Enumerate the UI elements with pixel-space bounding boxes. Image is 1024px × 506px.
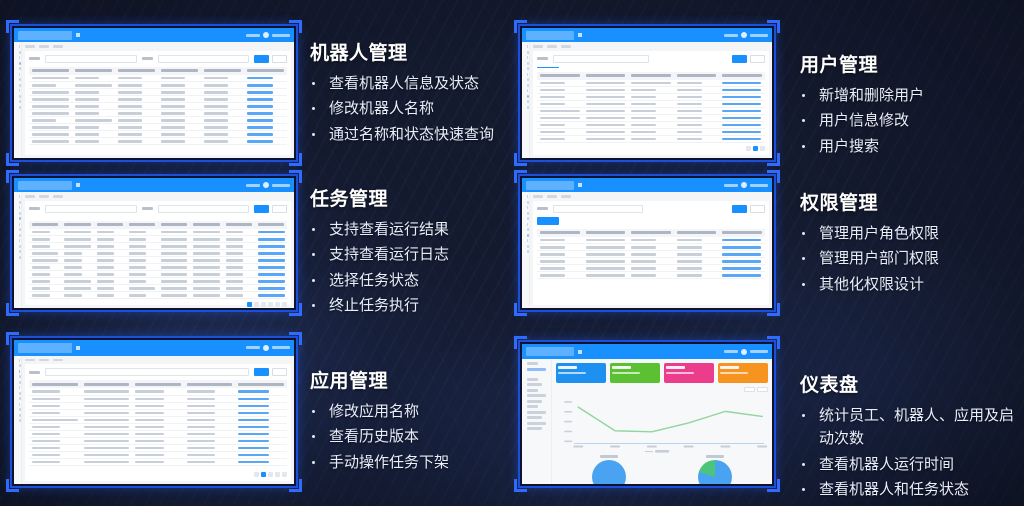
column-header[interactable] [29,67,72,75]
screenshot-application-management[interactable] [10,336,298,488]
table-row[interactable] [29,292,287,299]
column-header[interactable] [115,67,158,75]
sidebar-item[interactable] [19,84,21,87]
pagination[interactable] [29,299,287,307]
sidebar-item[interactable] [19,78,21,81]
table-row[interactable] [29,423,287,430]
pagination-page[interactable] [753,146,758,151]
sidebar-item[interactable] [527,201,529,204]
cell [115,117,158,124]
cell-action[interactable] [255,271,287,278]
sidebar-item[interactable] [19,256,21,259]
sidebar-item[interactable] [19,408,21,411]
table-row[interactable] [29,402,287,409]
cell-action[interactable] [235,444,287,451]
sidebar-item[interactable] [19,381,21,384]
sidebar-item[interactable] [19,51,21,54]
sidebar-item[interactable] [19,201,21,204]
pagination-page[interactable] [275,302,280,307]
breadcrumb-item[interactable] [25,195,35,198]
table-row[interactable] [537,237,765,244]
cell-action[interactable] [235,423,287,430]
table-row[interactable] [29,103,287,110]
header-link[interactable] [246,34,260,37]
add-user-button[interactable] [537,67,559,68]
add-role-button[interactable] [537,217,559,225]
sidebar-item[interactable] [19,245,21,248]
pagination[interactable] [29,469,287,477]
table-row[interactable] [537,87,765,94]
table-row[interactable] [29,430,287,437]
sidebar-item[interactable] [527,400,542,403]
cell-action[interactable] [255,229,287,236]
column-header[interactable] [201,67,244,75]
table-row[interactable] [29,257,287,264]
sidebar-item[interactable] [19,419,21,422]
screenshot-dashboard[interactable] [518,340,776,488]
pie-left[interactable] [592,460,626,484]
cell-action[interactable] [235,437,287,444]
table-row[interactable] [29,416,287,423]
table-row[interactable] [29,124,287,131]
cell-action[interactable] [255,264,287,271]
cell-action[interactable] [235,388,287,395]
reset-button[interactable] [750,205,765,213]
menu-toggle-icon[interactable] [76,33,80,37]
cell [537,94,583,101]
bullet-dot-icon [802,232,805,235]
sidebar-item-active[interactable] [19,370,20,373]
table-row[interactable] [29,285,287,292]
table-row[interactable] [29,444,287,451]
cell-action[interactable] [719,115,765,122]
cell-action[interactable] [244,138,287,145]
table-row[interactable] [537,108,765,115]
sidebar-item[interactable] [19,386,20,389]
table-row[interactable] [29,110,287,117]
sidebar-item[interactable] [527,67,529,70]
column-header[interactable] [628,72,674,80]
cell-action[interactable] [244,110,287,117]
corner-bracket-top-left-icon [514,170,527,183]
sidebar-item[interactable] [527,217,529,220]
sidebar-item[interactable] [19,414,21,417]
sidebar-item[interactable] [19,106,21,109]
column-header[interactable] [29,221,61,229]
bullet-text: 用户信息修改 [819,109,1010,132]
sidebar-item[interactable] [527,73,528,76]
sidebar-item-active[interactable] [527,95,529,98]
range-option-week[interactable] [744,387,755,392]
column-header[interactable] [61,221,93,229]
cell [201,96,244,103]
table-row[interactable] [29,89,287,96]
sidebar-item[interactable] [527,195,528,198]
search-button[interactable] [254,55,269,63]
menu-toggle-icon[interactable] [76,346,80,350]
column-header[interactable] [537,72,583,80]
column-header[interactable] [223,221,255,229]
chart-range-toggle[interactable] [556,387,768,392]
filter-label [537,57,548,60]
stat-card-employees[interactable] [556,363,606,383]
sidebar-item-active[interactable] [527,368,546,371]
sidebar-item[interactable] [527,206,528,209]
sidebar-item[interactable] [19,45,20,48]
cell-action[interactable] [719,265,765,272]
column-header[interactable] [72,67,115,75]
filter-bar [29,368,287,376]
stat-card-robots[interactable] [610,363,660,383]
sidebar-item[interactable] [19,239,20,242]
header-link[interactable] [246,184,260,187]
stat-card-launches[interactable] [718,363,768,383]
cell-action[interactable] [244,96,287,103]
cell-action[interactable] [235,430,287,437]
pagination-page[interactable] [247,302,252,307]
sidebar-item[interactable] [19,375,21,378]
sidebar-item[interactable] [19,397,21,400]
cell-action[interactable] [255,292,287,299]
sidebar-item[interactable] [527,106,529,109]
cell-action[interactable] [719,272,765,279]
sidebar-item-active[interactable] [19,62,21,65]
sidebar-item[interactable] [19,234,21,237]
reset-button[interactable] [750,55,765,63]
sidebar-item[interactable] [527,394,546,397]
avatar[interactable] [741,349,747,355]
table-row[interactable] [29,278,287,285]
sidebar-item-active[interactable] [527,234,529,237]
header-link[interactable] [724,184,738,187]
header-link[interactable] [246,346,260,349]
breadcrumb-item[interactable] [39,45,49,48]
pagination-page[interactable] [261,302,266,307]
sidebar-item[interactable] [19,403,20,406]
table-row[interactable] [537,122,765,129]
table-row[interactable] [29,250,287,257]
bullet-text: 支持查看运行结果 [329,218,525,241]
sidebar-item[interactable] [527,362,538,365]
search-input[interactable] [45,368,249,376]
sidebar-item[interactable] [527,223,528,226]
avatar[interactable] [263,345,269,351]
breadcrumb-item[interactable] [533,45,543,48]
cell-action[interactable] [255,250,287,257]
table-row[interactable] [537,244,765,251]
pie-right[interactable] [698,460,732,484]
column-header[interactable] [537,229,583,237]
breadcrumb-item[interactable] [547,45,557,48]
pagination-page[interactable] [275,472,280,477]
table-row[interactable] [29,264,287,271]
table-row[interactable] [29,229,287,236]
search-input[interactable] [553,55,649,63]
sidebar-item[interactable] [19,67,21,70]
table-row[interactable] [537,115,765,122]
table-row[interactable] [29,451,287,458]
column-header[interactable] [158,221,190,229]
cell-action[interactable] [244,75,287,82]
column-header[interactable] [132,380,184,388]
cell [115,131,158,138]
bullet-text: 其他化权限设计 [819,273,1010,296]
column-header[interactable] [719,229,765,237]
cell-action[interactable] [719,136,765,143]
bullet-item: 查看机器人和任务状态 [800,478,1018,501]
cell-action[interactable] [255,285,287,292]
screenshot-permission-management[interactable] [518,174,776,312]
pagination-page[interactable] [261,472,266,477]
menu-toggle-icon[interactable] [578,350,582,354]
pagination-next[interactable] [760,146,765,151]
cell-action[interactable] [235,409,287,416]
column-header[interactable] [255,221,287,229]
cell-action[interactable] [255,236,287,243]
cell-action[interactable] [255,278,287,285]
cell-action[interactable] [719,244,765,251]
breadcrumb-item[interactable] [25,45,35,48]
sidebar-item[interactable] [527,89,528,92]
sidebar-item-active[interactable] [19,217,21,220]
table-row[interactable] [29,243,287,250]
menu-toggle-icon[interactable] [76,183,80,187]
pagination-prev[interactable] [254,472,259,477]
column-header[interactable] [126,221,158,229]
search-button[interactable] [732,205,747,213]
table-row[interactable] [29,117,287,124]
range-option-month[interactable] [757,387,768,392]
pagination-next[interactable] [282,302,287,307]
search-button[interactable] [254,368,269,376]
menu-toggle-icon[interactable] [578,33,582,37]
sidebar-item[interactable] [19,56,20,59]
column-header[interactable] [244,67,287,75]
sidebar-item[interactable] [19,100,21,103]
bullet-list: 修改应用名称 查看历史版本 手动操作任务下架 [310,400,525,474]
column-header[interactable] [235,380,287,388]
stat-card-applications[interactable] [664,363,714,383]
pagination-page[interactable] [254,302,259,307]
sidebar-item[interactable] [19,95,21,98]
search-input[interactable] [45,205,137,213]
cell-action[interactable] [235,402,287,409]
reset-button[interactable] [272,55,287,63]
column-header[interactable] [583,72,629,80]
column-header[interactable] [719,72,765,80]
column-header[interactable] [674,229,720,237]
table-row[interactable] [537,80,765,87]
cell-action[interactable] [719,101,765,108]
table-row[interactable] [537,265,765,272]
reset-button[interactable] [272,368,287,376]
table-row[interactable] [29,388,287,395]
pagination-page[interactable] [268,302,273,307]
sidebar-item[interactable] [19,212,21,215]
cell-action[interactable] [719,87,765,94]
cell-action[interactable] [719,258,765,265]
table-row[interactable] [537,94,765,101]
column-header[interactable] [583,229,629,237]
cell-action[interactable] [235,416,287,423]
column-header[interactable] [81,380,133,388]
chart-legend [645,450,669,453]
column-header[interactable] [674,72,720,80]
cell-action[interactable] [235,458,287,465]
sidebar [522,192,530,308]
search-button[interactable] [254,205,269,213]
table-row[interactable] [537,258,765,265]
avatar[interactable] [741,32,747,38]
cell-action[interactable] [235,395,287,402]
cell-action[interactable] [244,117,287,124]
sidebar-item[interactable] [527,239,528,242]
corner-bracket-bottom-left-icon [514,479,527,492]
table-row[interactable] [29,409,287,416]
table-row[interactable] [29,437,287,444]
pagination-prev[interactable] [746,146,751,151]
search-input[interactable] [45,55,137,63]
header-link[interactable] [724,350,738,353]
cell-action[interactable] [244,131,287,138]
sidebar-item[interactable] [527,56,528,59]
table-row[interactable] [537,101,765,108]
cell [537,272,583,279]
section-heading: 任务管理 [310,184,525,211]
sidebar-item[interactable] [527,78,529,81]
cell-action[interactable] [255,243,287,250]
breadcrumb-item[interactable] [533,195,543,198]
breadcrumb-item[interactable] [39,359,49,362]
sidebar-item[interactable] [19,228,21,231]
sidebar-item[interactable] [527,45,528,48]
sidebar-item[interactable] [527,62,529,65]
avatar[interactable] [263,32,269,38]
cell [201,89,244,96]
screenshot-user-management[interactable] [518,24,776,162]
cell-action[interactable] [719,108,765,115]
breadcrumb-item[interactable] [547,195,557,198]
screenshot-task-management[interactable] [10,174,298,312]
sidebar-item[interactable] [527,378,538,381]
cell-action[interactable] [719,237,765,244]
sidebar-item[interactable] [19,392,21,395]
cell [81,423,133,430]
status-select[interactable] [158,205,250,213]
search-button[interactable] [732,55,747,63]
sidebar-item[interactable] [527,405,538,408]
cell-action[interactable] [235,451,287,458]
corner-bracket-top-left-icon [514,20,527,33]
cell-action[interactable] [244,124,287,131]
corner-bracket-top-right-icon [767,170,780,183]
sidebar-item[interactable] [527,228,529,231]
cell-action[interactable] [244,89,287,96]
table-row[interactable] [29,96,287,103]
sidebar-item[interactable] [527,411,546,414]
table-row[interactable] [29,395,287,402]
cell-action[interactable] [255,257,287,264]
sidebar-item[interactable] [527,212,529,215]
reset-button[interactable] [272,205,287,213]
sidebar-item[interactable] [527,416,542,419]
sidebar-item[interactable] [19,195,20,198]
table-row[interactable] [537,251,765,258]
table-row[interactable] [537,272,765,279]
sidebar-item[interactable] [527,389,538,392]
avatar[interactable] [741,182,747,188]
sidebar-item[interactable] [527,84,529,87]
column-header[interactable] [628,229,674,237]
corner-bracket-top-left-icon [6,332,19,345]
table-row[interactable] [537,136,765,143]
sidebar-item[interactable] [527,51,529,54]
sidebar-item[interactable] [527,250,529,253]
column-header[interactable] [190,221,222,229]
table-row[interactable] [29,75,287,82]
column-header[interactable] [29,380,81,388]
table-row[interactable] [29,458,287,465]
sidebar-item[interactable] [19,250,21,253]
cell-action[interactable] [719,251,765,258]
sidebar-item[interactable] [527,383,542,386]
filter-label [537,207,548,210]
search-input[interactable] [553,205,643,213]
sidebar-item[interactable] [527,422,546,425]
table-row[interactable] [29,131,287,138]
cell [29,423,81,430]
breadcrumb-item [53,359,63,362]
column-header[interactable] [94,221,126,229]
column-header[interactable] [184,380,236,388]
cell-action[interactable] [244,103,287,110]
cell-action[interactable] [719,129,765,136]
sidebar-item[interactable] [19,73,20,76]
table-row[interactable] [29,271,287,278]
table-row[interactable] [537,129,765,136]
sidebar-item[interactable] [19,359,20,362]
cell-action[interactable] [244,82,287,89]
avatar[interactable] [263,182,269,188]
sidebar-item[interactable] [19,89,20,92]
cell-action[interactable] [719,94,765,101]
cell-action[interactable] [719,80,765,87]
column-header[interactable] [158,67,201,75]
sidebar-item[interactable] [19,223,20,226]
pagination-page[interactable] [268,472,273,477]
app-main [552,359,772,484]
sidebar-item[interactable] [527,245,529,248]
cell [190,292,222,299]
pagination-next[interactable] [282,472,287,477]
breadcrumb-item[interactable] [39,195,49,198]
cell-action[interactable] [719,122,765,129]
sidebar-item[interactable] [19,364,21,367]
sidebar-item[interactable] [19,206,20,209]
menu-toggle-icon[interactable] [578,183,582,187]
status-select[interactable] [158,55,250,63]
breadcrumb-item[interactable] [25,359,35,362]
screenshot-robot-management[interactable] [10,24,298,162]
header-link[interactable] [724,34,738,37]
pagination[interactable] [537,143,765,151]
cell [223,257,255,264]
table-row[interactable] [29,236,287,243]
sidebar-item[interactable] [527,100,529,103]
table-row[interactable] [29,138,287,145]
table-row[interactable] [29,82,287,89]
sidebar-item[interactable] [527,427,542,430]
